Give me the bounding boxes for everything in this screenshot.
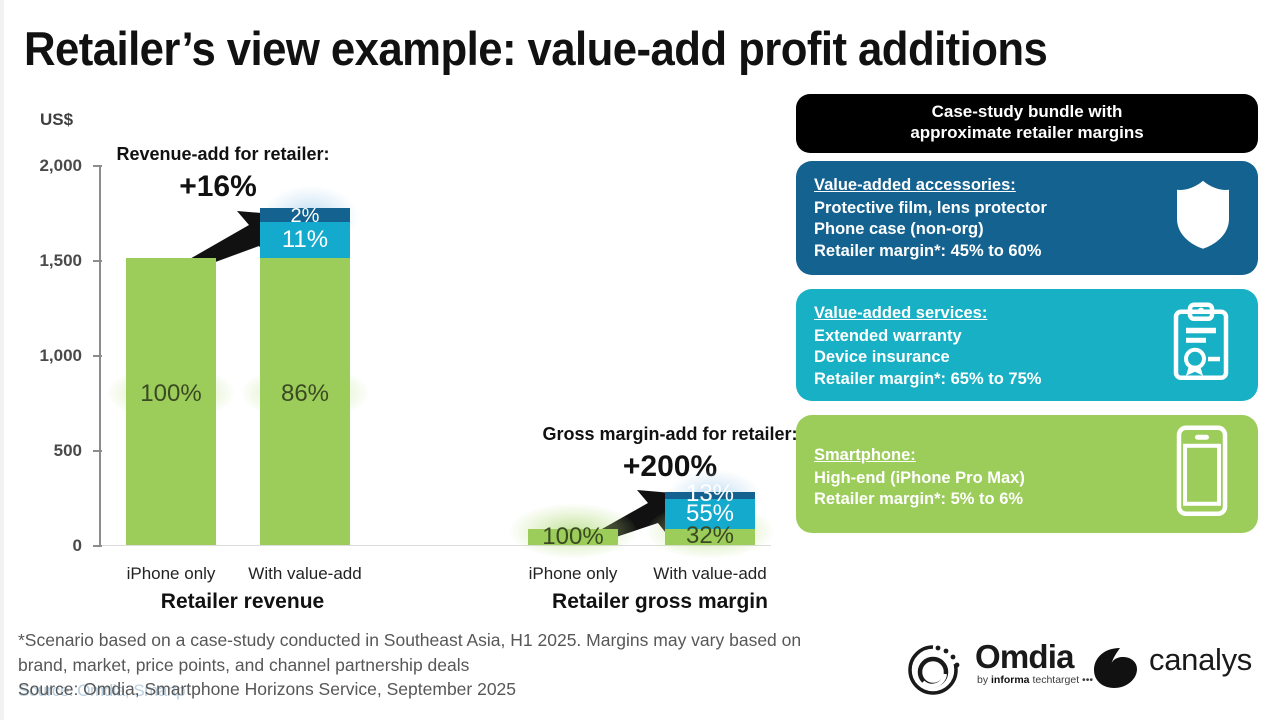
category-label-revenue-iphone-only: iPhone only	[101, 564, 241, 584]
omdia-tagline-informa: informa	[991, 674, 1032, 686]
slide-root: Retailer’s view example: value-add profi…	[0, 0, 1280, 720]
canalys-mark-icon	[1090, 644, 1142, 690]
segment-label-smartphone: 86%	[260, 382, 350, 406]
canalys-wordmark: canalys	[1149, 642, 1252, 678]
card-heading: Smartphone:	[814, 445, 1119, 466]
footnote-line-2: brand, market, price points, and channel…	[18, 653, 898, 678]
card-value-added-accessories[interactable]: Value-added accessories: Protective film…	[796, 161, 1258, 275]
bar-margin-with-value-add[interactable]: 13% 55% 32%	[665, 492, 755, 545]
segment-label-smartphone: 100%	[126, 382, 216, 406]
chart-canvas: US$ 2,000 1,500 1,000 500 0 Revenue-add …	[0, 86, 790, 626]
source-line: Source: Omdia, Smartphone Horizons Servi…	[18, 679, 516, 700]
y-tick-label-0: 0	[0, 536, 82, 556]
shield-icon	[1174, 179, 1232, 257]
y-tick-1500	[93, 260, 102, 262]
omdia-tagline-techtarget: techtarget	[1032, 674, 1079, 686]
margin-callout-value: +200%	[520, 450, 820, 484]
group-label-retailer-revenue: Retailer revenue	[105, 590, 380, 614]
card-line: Retailer margin*: 45% to 60%	[814, 241, 1119, 262]
footnote: *Scenario based on a case-study conducte…	[18, 628, 898, 679]
revenue-callout-value: +16%	[118, 170, 318, 204]
card-heading: Value-added accessories:	[814, 175, 1119, 196]
card-body: Smartphone: High-end (iPhone Pro Max) Re…	[814, 429, 1119, 510]
footnote-line-1: *Scenario based on a case-study conducte…	[18, 628, 898, 653]
smartphone-icon	[1176, 425, 1228, 523]
bar-revenue-iphone-only[interactable]: 100%	[126, 258, 216, 545]
omdia-tagline: by informa techtarget •••	[977, 674, 1093, 686]
card-line: Retailer margin*: 5% to 6%	[814, 489, 1119, 510]
category-label-margin-iphone-only: iPhone only	[503, 564, 643, 584]
card-body: Value-added services: Extended warranty …	[814, 303, 1119, 390]
revenue-callout-title: Revenue-add for retailer:	[58, 144, 388, 165]
group-label-retailer-gross-margin: Retailer gross margin	[495, 590, 825, 614]
bar-revenue-with-value-add[interactable]: 2% 11% 86%	[260, 208, 350, 545]
category-label-margin-with-value-add: With value-add	[633, 564, 787, 584]
y-tick-0	[93, 545, 102, 547]
case-study-panel: Case-study bundle with approximate retai…	[796, 94, 1258, 533]
panel-header: Case-study bundle with approximate retai…	[796, 94, 1258, 153]
omdia-mark-icon	[905, 638, 967, 696]
card-value-added-services[interactable]: Value-added services: Extended warranty …	[796, 289, 1258, 401]
card-line: Device insurance	[814, 347, 1119, 368]
card-line: Retailer margin*: 65% to 75%	[814, 369, 1119, 390]
bar-margin-iphone-only[interactable]: 100%	[528, 529, 618, 545]
omdia-wordmark: Omdia	[975, 638, 1074, 676]
y-tick-500	[93, 450, 102, 452]
category-label-revenue-with-value-add: With value-add	[228, 564, 382, 584]
card-body: Value-added accessories: Protective film…	[814, 175, 1119, 262]
segment-label-accessories: 2%	[260, 206, 350, 226]
card-line: Extended warranty	[814, 326, 1119, 347]
y-tick-label-500: 500	[0, 441, 82, 461]
card-line: Protective film, lens protector	[814, 198, 1119, 219]
segment-label-services: 11%	[260, 228, 350, 252]
y-tick-label-1500: 1,500	[0, 251, 82, 271]
card-line: Phone case (non-org)	[814, 219, 1119, 240]
axis-unit-label: US$	[40, 110, 73, 130]
y-tick-2000	[93, 165, 102, 167]
segment-label-smartphone: 100%	[528, 525, 618, 549]
segment-label-smartphone: 32%	[665, 524, 755, 548]
card-smartphone[interactable]: Smartphone: High-end (iPhone Pro Max) Re…	[796, 415, 1258, 533]
card-heading: Value-added services:	[814, 303, 1119, 324]
clipboard-certificate-icon	[1170, 302, 1232, 388]
y-tick-label-1000: 1,000	[0, 346, 82, 366]
page-title: Retailer’s view example: value-add profi…	[24, 24, 1168, 73]
logo-bar: Omdia by informa techtarget ••• canalys	[905, 636, 1265, 698]
y-tick-1000	[93, 355, 102, 357]
panel-header-line1: Case-study bundle with	[806, 102, 1248, 123]
card-line: High-end (iPhone Pro Max)	[814, 468, 1119, 489]
panel-header-line2: approximate retailer margins	[806, 123, 1248, 144]
omdia-tagline-by: by	[977, 674, 991, 686]
